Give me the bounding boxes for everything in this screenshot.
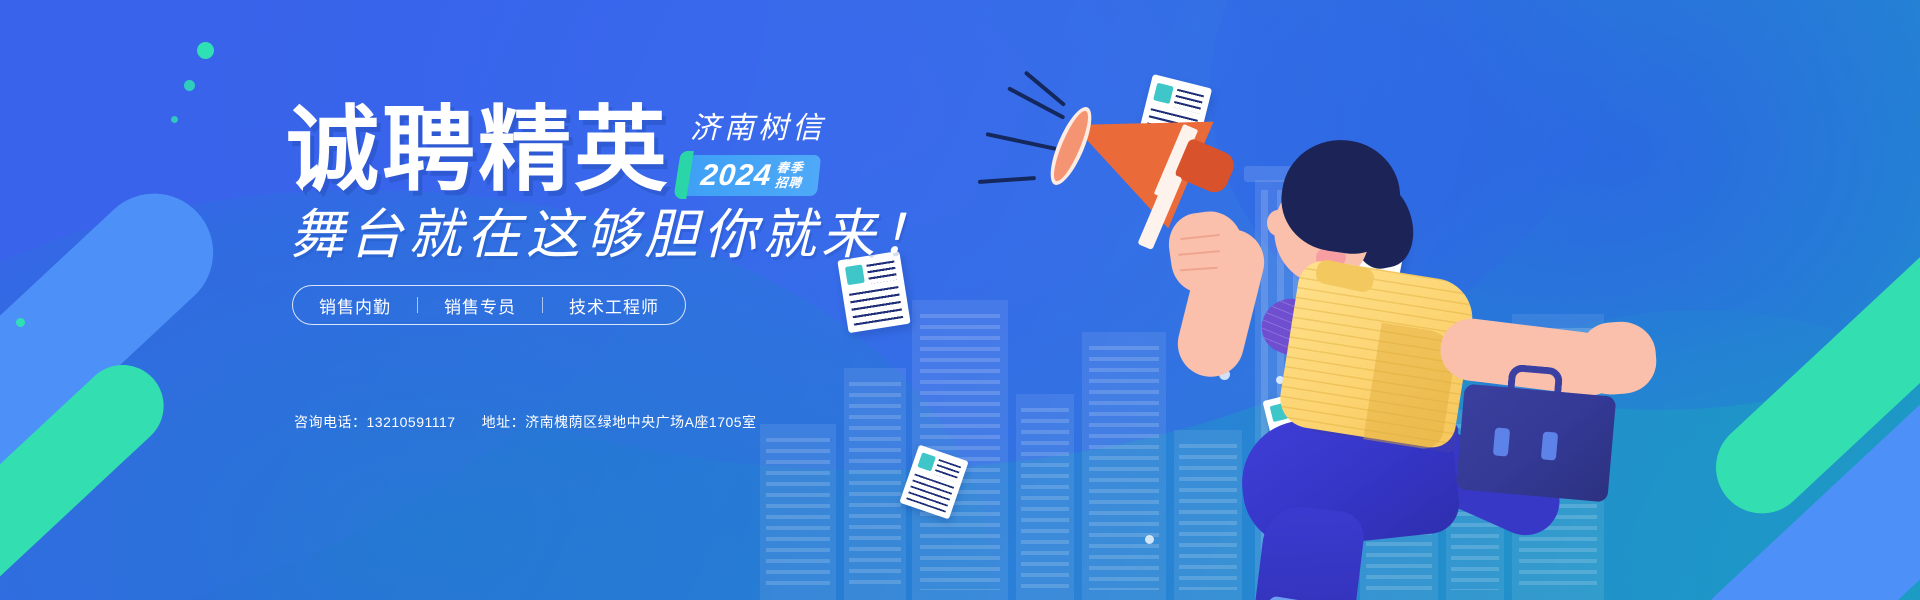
page-title: 诚聘精英 (286, 104, 670, 197)
banner-text-content: 诚聘精英 济南树信 2024 春季 招聘 舞台就在这够胆你就来！ 销售内勤 销售… (286, 0, 966, 600)
tag-divider (542, 297, 543, 313)
tag-divider (417, 297, 418, 313)
badge-subtext: 春季 招聘 (774, 161, 804, 191)
phone-value: 13210591117 (367, 414, 456, 430)
job-tag-technical-engineer[interactable]: 技术工程师 (569, 293, 659, 318)
badge-subtext-line2: 招聘 (774, 176, 803, 191)
phone-label: 咨询电话： (294, 412, 367, 432)
headline-row: 诚聘精英 济南树信 2024 春季 招聘 (286, 104, 826, 197)
badge-subtext-line1: 春季 (776, 161, 805, 176)
recruitment-banner: 诚聘精英 济南树信 2024 春季 招聘 舞台就在这够胆你就来！ 销售内勤 销售… (0, 0, 1920, 600)
decorative-dot-teal (16, 318, 25, 327)
address-label: 地址： (482, 412, 526, 432)
decorative-dot-teal (171, 116, 178, 123)
decorative-dot-teal (197, 42, 214, 59)
job-tag-sales-assistant[interactable]: 销售内勤 (319, 293, 391, 318)
badge-year: 2024 (699, 161, 773, 191)
briefcase-clasp (1541, 431, 1558, 460)
badge-flag-accent (673, 151, 694, 199)
page-subtitle: 舞台就在这够胆你就来！ (290, 208, 939, 262)
decorative-dot-teal (184, 80, 195, 91)
campaign-badge: 2024 春季 招聘 (684, 155, 821, 196)
brand-block: 济南树信 2024 春季 招聘 (686, 104, 826, 196)
contact-info: 咨询电话： 13210591117 地址： 济南槐荫区绿地中央广场A座1705室 (294, 412, 757, 432)
job-tags-pill: 销售内勤 销售专员 技术工程师 (292, 285, 686, 325)
brand-name: 济南树信 (690, 114, 826, 144)
address-value: 济南槐荫区绿地中央广场A座1705室 (525, 412, 756, 432)
speed-line (1007, 86, 1065, 120)
job-tag-sales-specialist[interactable]: 销售专员 (444, 293, 516, 318)
running-person-illustration (1020, 60, 1640, 600)
briefcase-icon (1456, 384, 1617, 503)
speed-line (986, 132, 1057, 151)
briefcase-clasp (1493, 427, 1510, 456)
